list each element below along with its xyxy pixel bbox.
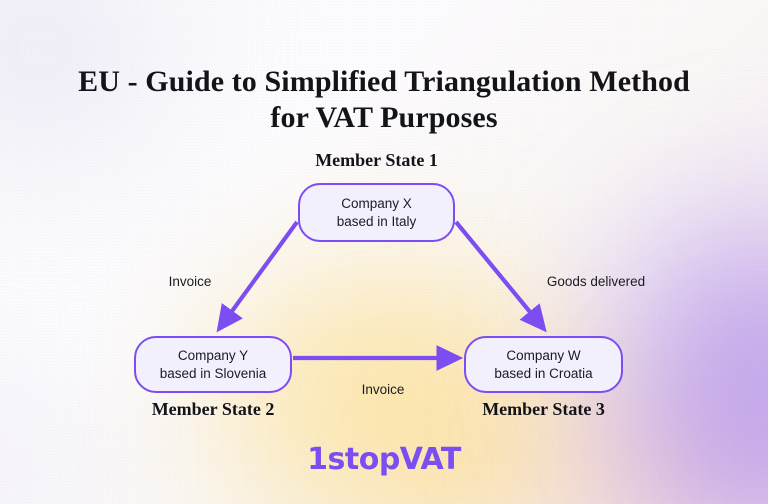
brand-logo-part-1: 1stop — [307, 442, 400, 477]
label-member-state-1: Member State 1 — [298, 150, 455, 171]
label-member-state-2: Member State 2 — [134, 399, 292, 420]
label-member-state-3: Member State 3 — [464, 399, 623, 420]
brand-logo-part-2: VAT — [400, 442, 461, 477]
node-company-x-line-2: based in Italy — [337, 213, 417, 231]
diagram-arrows — [0, 0, 768, 504]
node-company-w: Company W based in Croatia — [464, 336, 623, 393]
label-arrow-x-to-y: Invoice — [120, 274, 260, 289]
label-arrow-x-to-w: Goods delivered — [512, 274, 680, 289]
label-arrow-y-to-w: Invoice — [303, 382, 463, 397]
node-company-x: Company X based in Italy — [298, 183, 455, 242]
infographic-canvas: EU - Guide to Simplified Triangulation M… — [0, 0, 768, 504]
node-company-y: Company Y based in Slovenia — [134, 336, 292, 393]
brand-logo: 1stopVAT — [0, 443, 768, 477]
node-company-y-line-1: Company Y — [178, 347, 248, 365]
node-company-w-line-2: based in Croatia — [494, 365, 592, 383]
node-company-x-line-1: Company X — [341, 195, 412, 213]
node-company-w-line-1: Company W — [506, 347, 580, 365]
node-company-y-line-2: based in Slovenia — [160, 365, 267, 383]
